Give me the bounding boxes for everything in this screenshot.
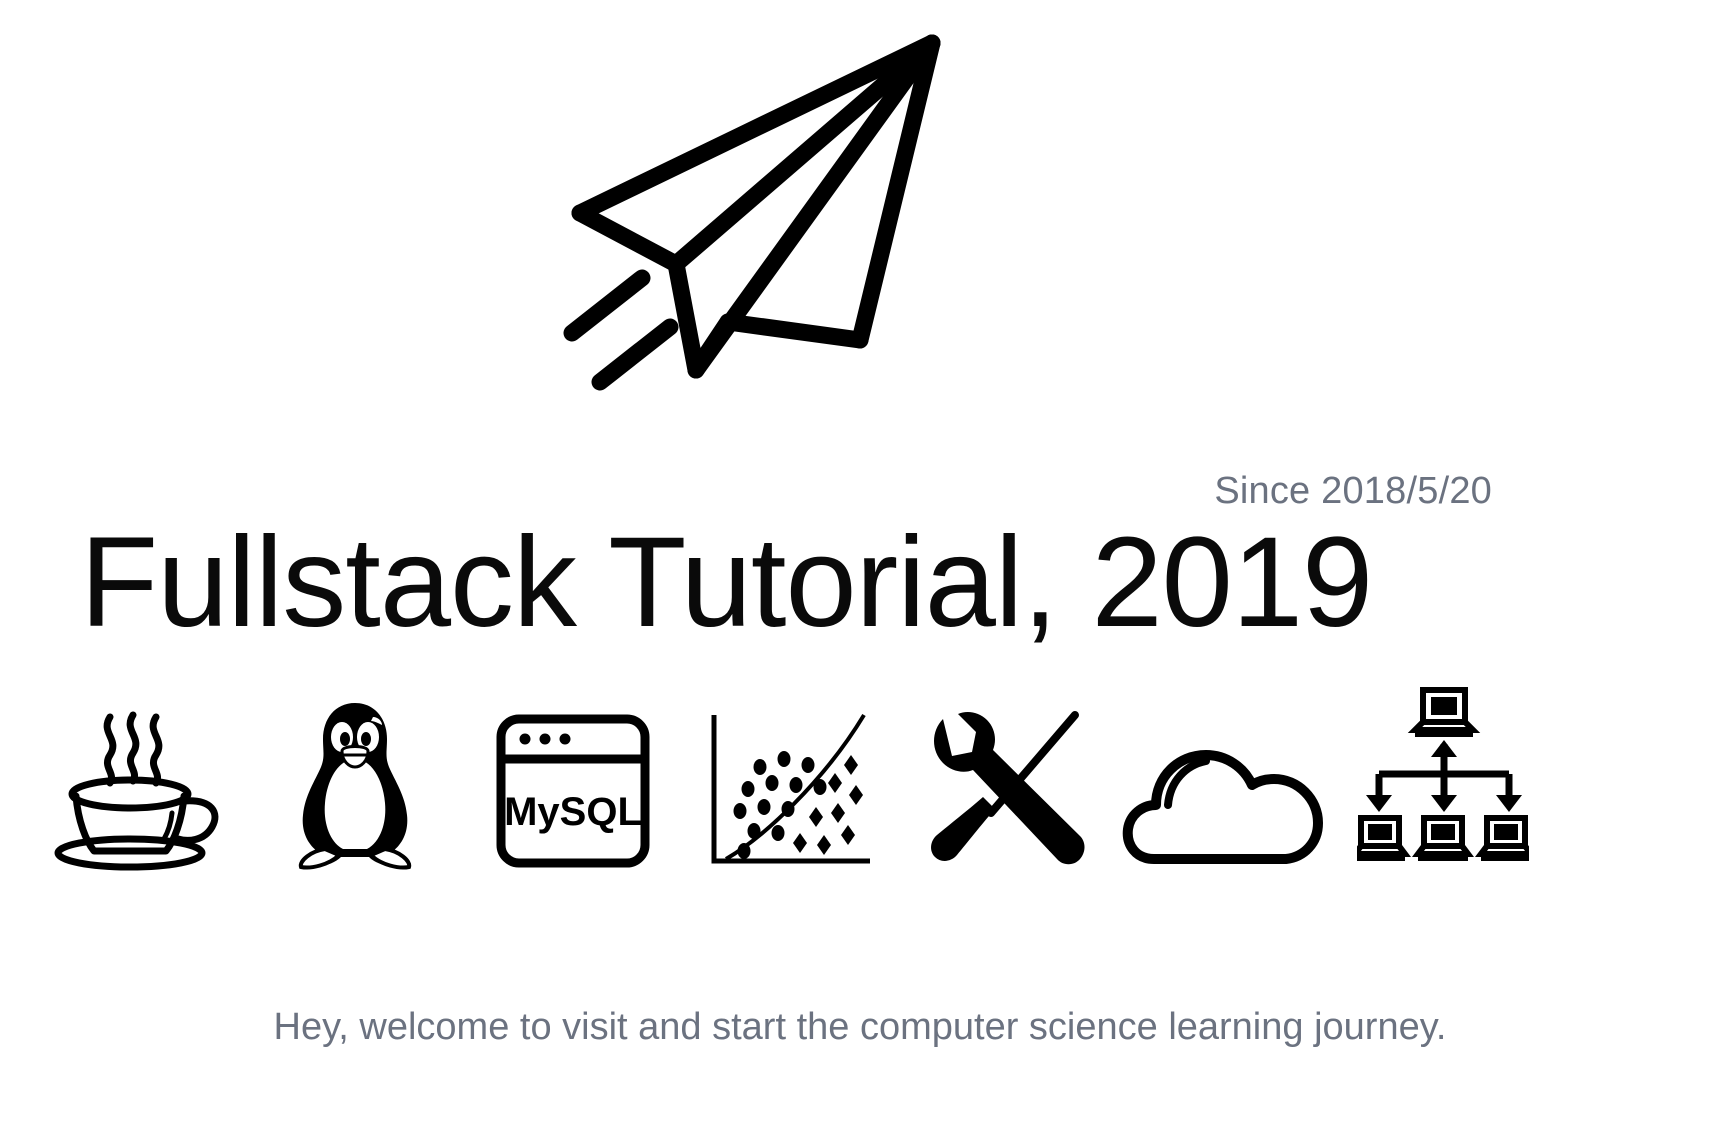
data-science-scatter-chart-icon [704,711,876,871]
landing-page: Since 2018/5/20 Fullstack Tutorial, 2019 [0,0,1720,1148]
tech-icon-linux [268,686,443,871]
tech-icon-java [50,686,225,871]
paper-plane-icon [560,10,980,410]
tools-wrench-screwdriver-icon [925,709,1091,871]
mysql-wordmark: MySQL [504,790,642,834]
distributed-network-icon [1357,686,1529,871]
tech-icon-mysql: MySQL [485,686,660,871]
java-coffee-cup-icon [54,701,222,871]
tech-icon-tools [920,686,1095,871]
mysql-window-icon: MySQL [493,711,653,871]
tech-icon-cloud [1138,686,1313,871]
welcome-tagline: Hey, welcome to visit and start the comp… [0,1002,1720,1052]
since-label: Since 2018/5/20 [80,468,1492,514]
headline-block: Since 2018/5/20 Fullstack Tutorial, 2019 [80,468,1492,650]
cloud-icon [1122,729,1328,871]
tech-icon-data-science [703,686,878,871]
tech-icon-strip: MySQL [50,686,1530,871]
tech-icon-distributed [1355,686,1530,871]
linux-penguin-icon [281,699,429,871]
page-title: Fullstack Tutorial, 2019 [80,516,1492,650]
